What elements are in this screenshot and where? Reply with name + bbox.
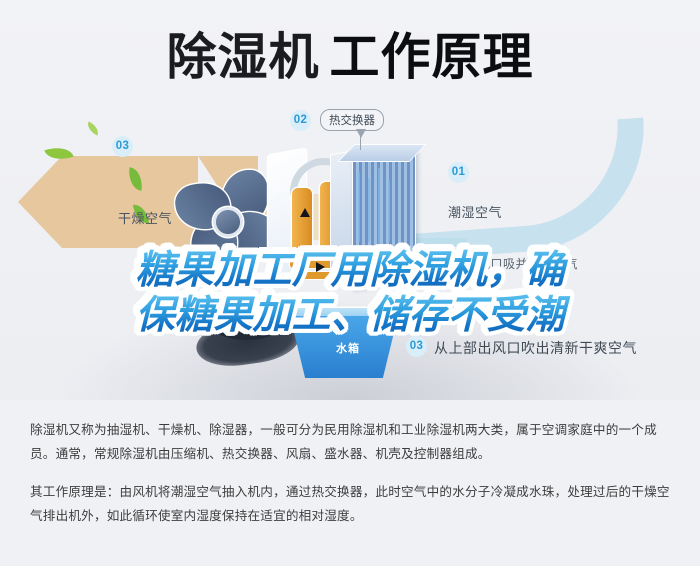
condensate-streak — [358, 172, 360, 242]
title-part-2: 工作原理 — [330, 29, 534, 85]
body-paragraph-1: 除湿机又称为抽湿机、干燥机、除湿器，一般可分为民用除湿机和工业除湿机两大类，属于… — [30, 418, 670, 466]
condensate-streak — [378, 168, 380, 244]
compressor-cylinder — [292, 188, 312, 254]
unit-base — [214, 314, 278, 340]
leaf-icon — [85, 121, 102, 135]
note-label-03: 从上部出风口吹出清新干爽空气 — [434, 338, 637, 358]
infographic-hero: 除湿机工作原理 — [0, 0, 700, 400]
body-paragraph-2: 其工作原理是：由风机将潮湿空气抽入机内，通过热交换器，此时空气中的水分子冷凝成水… — [30, 480, 670, 528]
condensate-streak — [388, 180, 390, 242]
dehumidifier-diagram: 水箱 03 干燥空气 02 热交换器 01 潮湿空气 01 从下部进风口吸并潮湿… — [0, 108, 700, 400]
note-label-01: 从下部进风口吸并潮湿空气 — [428, 255, 578, 272]
callout-bubble-leader — [360, 136, 361, 150]
callout-label-humid-air: 潮湿空气 — [448, 202, 502, 221]
water-tank-label: 水箱 — [318, 340, 378, 356]
callout-bubble-heat-exchanger: 热交换器 — [320, 109, 384, 131]
flow-arrow-up-icon — [300, 208, 310, 217]
flow-arrow-right-icon — [316, 262, 325, 272]
fan-hub — [216, 210, 240, 234]
note-label-02: 水分子冷凝成水珠 — [432, 294, 532, 311]
note-badge-03: 03 — [406, 336, 427, 357]
article-body: 除湿机又称为抽湿机、干燥机、除湿器，一般可分为民用除湿机和工业除湿机两大类，属于… — [30, 418, 670, 542]
condensate-streak — [368, 178, 370, 242]
page-title: 除湿机工作原理 — [0, 26, 700, 88]
callout-badge-02: 02 — [290, 110, 311, 131]
callout-badge-01: 01 — [448, 162, 469, 183]
callout-label-dry-air: 干燥空气 — [118, 208, 172, 227]
callout-badge-03: 03 — [112, 136, 133, 157]
page-root: 除湿机工作原理 — [0, 0, 700, 566]
title-part-1: 除湿机 — [167, 29, 320, 85]
